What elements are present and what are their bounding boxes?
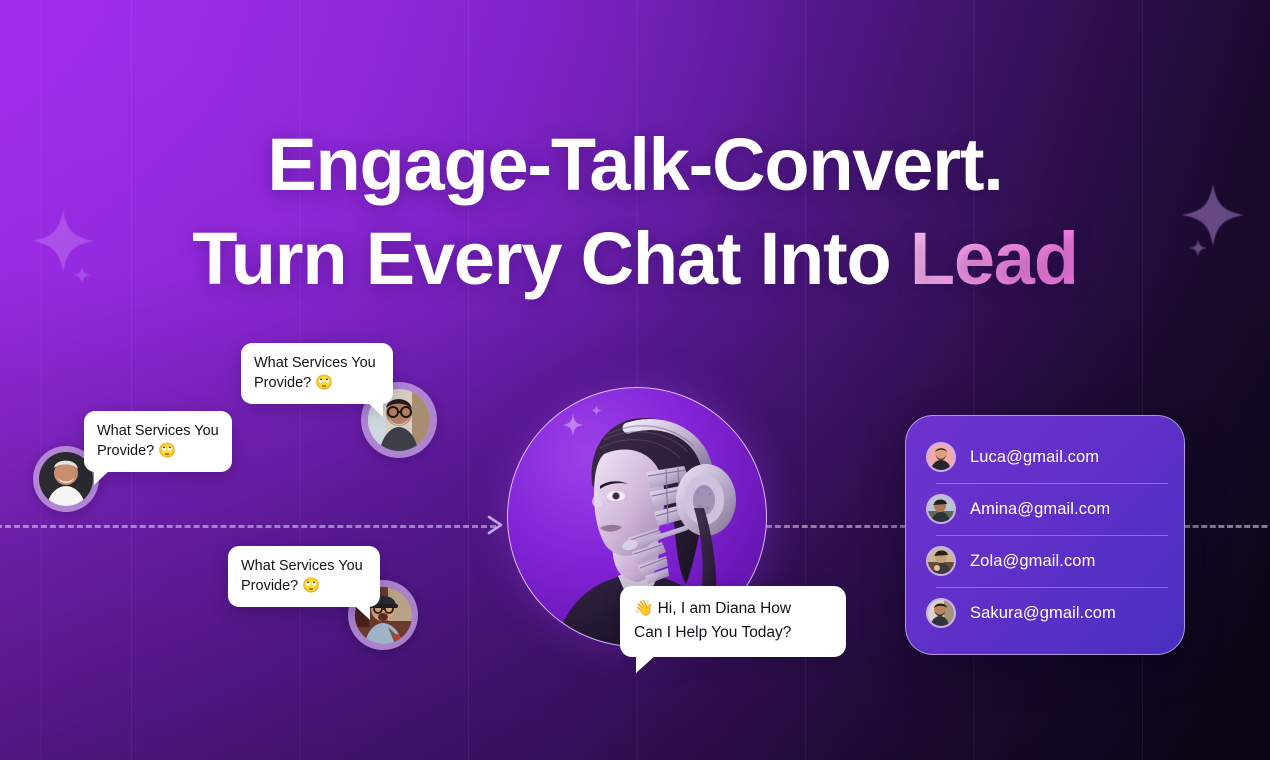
leads-card[interactable]: Luca@gmail.com Amina@gmail.com <box>905 415 1185 655</box>
list-item[interactable]: Sakura@gmail.com <box>926 587 1164 639</box>
headline-line-1: Engage-Talk-Convert. <box>267 123 1002 206</box>
bubble-tail <box>367 402 383 417</box>
chat-bubble: What Services You Provide? 🙄 <box>228 546 380 607</box>
assistant-greeting-bubble: 👋 Hi, I am Diana How Can I Help You Toda… <box>620 586 846 657</box>
headline-accent-lead: Lead <box>910 217 1078 300</box>
flow-line-left <box>0 525 496 528</box>
list-item[interactable]: Luca@gmail.com <box>926 431 1164 483</box>
bubble-tail <box>94 470 110 485</box>
sparkle-icon <box>560 412 586 443</box>
headline-line-2-prefix: Turn Every Chat Into <box>192 217 910 300</box>
chat-bubble: What Services You Provide? 🙄 <box>241 343 393 404</box>
headline-line-2: Turn Every Chat Into Lead <box>0 212 1270 306</box>
avatar <box>926 546 956 576</box>
list-item[interactable]: Amina@gmail.com <box>926 483 1164 535</box>
list-item[interactable]: Zola@gmail.com <box>926 535 1164 587</box>
avatar-luca <box>928 444 954 470</box>
avatar <box>926 442 956 472</box>
avatar <box>926 494 956 524</box>
avatar-sakura <box>928 600 954 626</box>
bubble-tail <box>636 655 656 673</box>
arrow-right-icon <box>487 513 509 542</box>
lead-email: Sakura@gmail.com <box>970 604 1116 623</box>
avatar-zola <box>928 548 954 574</box>
hero-banner: Engage-Talk-Convert. Turn Every Chat Int… <box>0 0 1270 760</box>
avatar <box>926 598 956 628</box>
sparkle-icon <box>590 404 603 422</box>
page-title: Engage-Talk-Convert. Turn Every Chat Int… <box>0 118 1270 306</box>
flow-line-mid <box>766 525 906 528</box>
avatar-amina <box>928 496 954 522</box>
lead-email: Zola@gmail.com <box>970 552 1095 571</box>
flow-line-right <box>1184 525 1270 528</box>
chat-bubble: What Services You Provide? 🙄 <box>84 411 232 472</box>
lead-email: Amina@gmail.com <box>970 500 1110 519</box>
bubble-tail <box>354 605 370 620</box>
lead-email: Luca@gmail.com <box>970 448 1099 467</box>
